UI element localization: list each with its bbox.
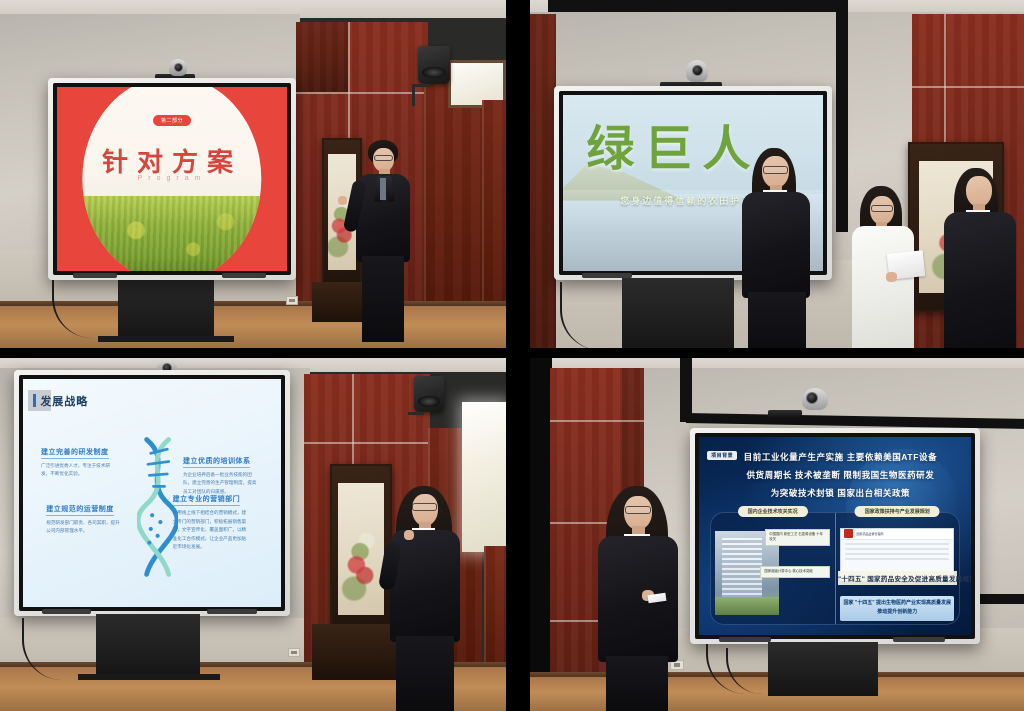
slide-title: 绿巨人 <box>586 109 760 179</box>
display-screen[interactable]: 项目背景 目前工业化量产生产实施 主要依赖美国ATF设备 供货周期长 技术被垄断… <box>699 437 971 635</box>
slide-title: 发展战略 <box>40 393 88 409</box>
folding-screen-ornament <box>330 464 392 634</box>
display-stand-legs <box>78 674 220 680</box>
dna-helix-icon <box>137 434 178 580</box>
wall-speaker <box>414 376 444 412</box>
display-screen[interactable]: 第二部分 针对方案 Program <box>57 87 287 271</box>
display-stand <box>118 276 214 342</box>
interactive-display[interactable]: 第二部分 针对方案 Program <box>48 78 296 280</box>
collage-panel-bottom-left: 发展战略 <box>0 358 506 711</box>
collage-panel-bottom-right: 项目背景 目前工业化量产生产实施 主要依赖美国ATF设备 供货周期长 技术被垄断… <box>530 358 1024 711</box>
website-content-rows <box>841 541 953 565</box>
interactive-display[interactable]: 发展战略 <box>14 370 290 616</box>
necktie <box>380 178 386 200</box>
slide-headline-group: 目前工业化量产生产实施 主要依赖美国ATF设备 供货周期长 技术被垄断 限制我国… <box>743 449 939 503</box>
person-hand-left <box>338 196 347 205</box>
column-pill-label: 国家政策扶持与产业发展规划 <box>855 506 940 517</box>
callout-note-1: 中国国内 新型工艺 石墨烯设备 十年攻关 <box>765 529 829 546</box>
strategy-body: 广泛引进优秀人才，专注于技术研发，不断优化实验。 <box>41 462 118 479</box>
classroom-scene: 第二部分 针对方案 Program <box>0 0 506 348</box>
display-speaker-grille-right <box>222 273 267 278</box>
slide-title-row: 发展战略 <box>33 393 88 409</box>
slide-development-strategy: 发展战略 <box>23 379 281 607</box>
display-speaker-grille-left <box>42 609 92 614</box>
person-trousers <box>748 292 806 348</box>
person-face <box>966 176 992 207</box>
glasses-icon <box>412 503 437 511</box>
door-panel <box>482 100 506 322</box>
glasses-icon <box>871 205 893 212</box>
slide-subtitle: 您身边值得信赖的农田护卫 <box>620 194 752 207</box>
wall-black-trim <box>836 0 848 232</box>
camera-lens-icon <box>174 63 183 72</box>
camera-lens-icon <box>806 392 818 404</box>
person-suit-jacket <box>742 192 810 298</box>
speaker-mount-arm <box>408 412 424 415</box>
wall-side-panel <box>530 14 556 348</box>
display-screen[interactable]: 发展战略 <box>23 379 281 607</box>
slide-section-badge: 第二部分 <box>153 115 191 126</box>
wood-seam <box>296 92 428 94</box>
policy-blue-note: 国家 "十四五" 提出生物医药产业实现高质量发展 推动提升创新能力 <box>840 596 954 621</box>
display-stand-legs <box>98 336 234 342</box>
display-speaker-grille-right <box>207 609 257 614</box>
classroom-scene: 项目背景 目前工业化量产生产实施 主要依赖美国ATF设备 供货周期长 技术被垄断… <box>530 358 1024 711</box>
wood-seam <box>912 86 1024 88</box>
strategy-body: 规范研发部门职责、各司其职，提升公司内部管理水平。 <box>46 519 123 536</box>
wall-outlet <box>286 296 298 305</box>
display-bezel: 第二部分 针对方案 Program <box>53 83 291 275</box>
display-bezel: 发展战略 <box>19 375 285 611</box>
wall-black-trim <box>530 358 552 711</box>
glasses-icon <box>763 166 788 174</box>
display-stand <box>768 642 878 696</box>
column-pill-label: 国内企业技术攻关实况 <box>738 506 808 517</box>
person-hand <box>886 272 897 282</box>
classroom-scene: 发展战略 <box>0 358 506 711</box>
slide-targeted-solution: 第二部分 针对方案 Program <box>57 87 287 271</box>
website-header: 国家药品监督管理局 <box>841 529 953 540</box>
slide-section-tag: 项目背景 <box>707 451 737 460</box>
display-stand <box>96 614 200 680</box>
strategy-body: 采用线上线下相结合的营销模式，建立专门的营销部门，积极拓展销售渠道，文字宣传化、… <box>173 509 250 551</box>
folding-screen-art <box>338 483 384 616</box>
strategy-heading: 建立优质的培训体系 <box>183 456 251 468</box>
strategy-heading: 建立规范的运营制度 <box>46 504 114 516</box>
glasses-icon <box>625 506 651 514</box>
policy-banner: "十四五" 国家药品安全及促进高质量发展规划 <box>838 571 957 585</box>
window <box>462 402 506 552</box>
strategy-block-4: 建立专业的营销部门 采用线上线下相结合的营销模式，建立专门的营销部门，积极拓展销… <box>173 488 250 551</box>
slide-headline-2: 供货周期长 技术被垄断 限制我国生物医药研发 <box>743 467 939 485</box>
slide-column-left: 国内企业技术攻关实况 国内首家以ATF技术路线实现国产化替代的企业 年产量约 3… <box>711 513 835 624</box>
display-speaker-grille-right <box>893 637 945 642</box>
person-trousers <box>362 256 404 342</box>
slide-headline-1: 目前工业化量产生产实施 主要依赖美国ATF设备 <box>743 449 939 467</box>
wood-seam <box>304 442 430 444</box>
photo-collage: 第二部分 针对方案 Program <box>0 0 1024 711</box>
wall-speaker <box>418 46 450 84</box>
website-row <box>845 543 949 545</box>
slide-column-right: 国家政策扶持与产业发展规划 国家药品监督管理局 <box>835 513 960 624</box>
website-row <box>845 548 949 550</box>
ceiling-track <box>548 0 848 12</box>
person-trousers <box>606 656 668 711</box>
strategy-heading: 建立完善的研发制度 <box>41 447 109 459</box>
door-panel <box>484 546 506 680</box>
facility-photo-caption: 国内首家以ATF技术路线实现国产化替代的企业 年产量约 300亿元 <box>716 609 779 614</box>
slide-headline-3: 为突破技术封锁 国家出台相关政策 <box>743 485 939 503</box>
person-hand <box>404 530 414 540</box>
camera-lens-icon <box>692 65 703 76</box>
strategy-heading: 建立专业的营销部门 <box>173 494 241 506</box>
strategy-block-1: 建立完善的研发制度 广泛引进优秀人才，专注于技术研发，不断优化实验。 <box>41 441 118 479</box>
strategy-block-3: 建立规范的运营制度 规范研发部门职责、各司其职，提升公司内部管理水平。 <box>46 498 123 536</box>
website-row <box>845 558 949 560</box>
slide-subtitle: Program <box>138 175 207 182</box>
display-speaker-grille-left <box>73 273 118 278</box>
collage-panel-top-left: 第二部分 针对方案 Program <box>0 0 506 348</box>
glasses-icon <box>374 155 393 161</box>
website-title: 国家药品监督管理局 <box>856 532 883 536</box>
callout-note-2: 国家超级计算中心 核心技术突破 <box>760 566 829 577</box>
person-suit-jacket <box>944 212 1016 348</box>
display-bezel: 项目背景 目前工业化量产生产实施 主要依赖美国ATF设备 供货周期长 技术被垄断… <box>695 433 975 639</box>
camera-mount-bar <box>768 410 802 418</box>
classroom-scene: 绿巨人 您身边值得信赖的农田护卫 <box>530 0 1024 348</box>
wall-outlet <box>288 648 300 657</box>
display-speaker-grille-left <box>719 637 771 642</box>
government-emblem-icon <box>844 529 853 538</box>
slide-title: 针对方案 <box>102 142 242 179</box>
display-stand <box>622 278 734 348</box>
speaker-mount-post <box>412 84 415 106</box>
slide-field-photo <box>82 195 261 271</box>
wood-seam <box>550 420 644 422</box>
person-white-coat <box>852 226 914 348</box>
person-trousers <box>396 636 454 711</box>
collage-panel-top-right: 绿巨人 您身边值得信赖的农田护卫 <box>530 0 1024 348</box>
wood-panel-corner <box>296 22 348 92</box>
slide-two-column-body: 国内企业技术攻关实况 国内首家以ATF技术路线实现国产化替代的企业 年产量约 3… <box>710 512 960 625</box>
slide-project-background: 项目背景 目前工业化量产生产实施 主要依赖美国ATF设备 供货周期长 技术被垄断… <box>699 437 971 635</box>
door <box>424 78 484 322</box>
interactive-display[interactable]: 项目背景 目前工业化量产生产实施 主要依赖美国ATF设备 供货周期长 技术被垄断… <box>690 428 980 644</box>
title-accent-bar <box>33 394 36 407</box>
website-row <box>845 553 949 555</box>
